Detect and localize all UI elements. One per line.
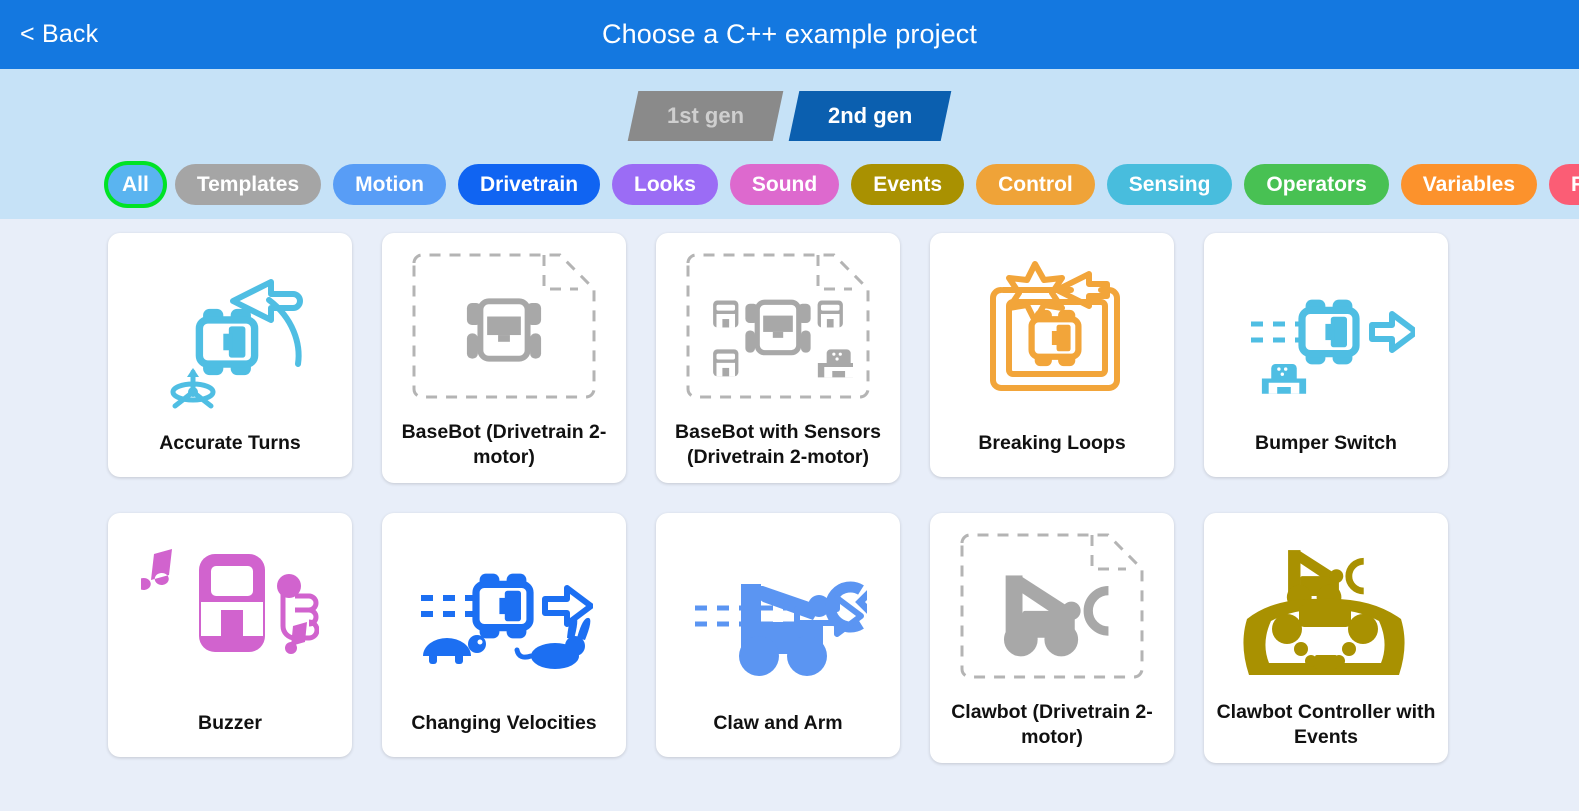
- project-card[interactable]: Bumper Switch: [1204, 233, 1448, 477]
- template-badge-frame: [963, 535, 1141, 685]
- basebot-drivetrain-icon: [382, 233, 626, 420]
- project-card-label: Bumper Switch: [1204, 431, 1448, 477]
- project-card-label: Clawbot Controller with Events: [1204, 700, 1448, 763]
- project-card-label: Accurate Turns: [108, 431, 352, 477]
- project-card-label: Breaking Loops: [930, 431, 1174, 477]
- category-pill-operators[interactable]: Operators: [1244, 164, 1388, 205]
- project-grid-scroll-area[interactable]: Accurate TurnsBaseBot (Drivetrain 2-moto…: [0, 219, 1579, 781]
- template-badge-frame: [689, 255, 867, 405]
- basebot-sensors-icon: [656, 233, 900, 420]
- robot-bumper-icon: [1204, 233, 1448, 431]
- loop-break-star-icon: [930, 233, 1174, 431]
- category-pill-variables[interactable]: Variables: [1401, 164, 1537, 205]
- project-card-label: Changing Velocities: [382, 711, 626, 757]
- category-pill-drivetrain[interactable]: Drivetrain: [458, 164, 600, 205]
- category-pill-events[interactable]: Events: [851, 164, 964, 205]
- tab-1st-gen-label: 1st gen: [667, 103, 744, 129]
- turtle-robot-rabbit-icon: [382, 513, 626, 711]
- category-pill-sensing[interactable]: Sensing: [1107, 164, 1233, 205]
- project-card[interactable]: Claw and Arm: [656, 513, 900, 757]
- category-pill-sound[interactable]: Sound: [730, 164, 839, 205]
- app-header: < Back Choose a C++ example project: [0, 0, 1579, 69]
- project-card[interactable]: BaseBot (Drivetrain 2-motor): [382, 233, 626, 483]
- category-pill-looks[interactable]: Looks: [612, 164, 718, 205]
- category-pill-functions[interactable]: Functions: [1549, 164, 1579, 205]
- buzzer-notes-hand-icon: [108, 513, 352, 711]
- clawbot-controller-icon: [1204, 513, 1448, 700]
- category-pill-templates[interactable]: Templates: [175, 164, 321, 205]
- back-button[interactable]: < Back: [12, 16, 106, 53]
- project-card-label: BaseBot with Sensors (Drivetrain 2-motor…: [656, 420, 900, 483]
- category-pill-all[interactable]: All: [108, 165, 163, 204]
- filter-panel: 1st gen 2nd gen AllTemplatesMotionDrivet…: [0, 69, 1579, 219]
- project-card[interactable]: Changing Velocities: [382, 513, 626, 757]
- category-pill-control[interactable]: Control: [976, 164, 1095, 205]
- clawbot-icon: [930, 513, 1174, 700]
- project-card-label: Buzzer: [108, 711, 352, 757]
- project-card-label: BaseBot (Drivetrain 2-motor): [382, 420, 626, 483]
- project-card[interactable]: Clawbot Controller with Events: [1204, 513, 1448, 763]
- category-pill-motion[interactable]: Motion: [333, 164, 446, 205]
- project-card-label: Clawbot (Drivetrain 2-motor): [930, 700, 1174, 763]
- tab-2nd-gen-label: 2nd gen: [828, 103, 912, 129]
- project-card[interactable]: Clawbot (Drivetrain 2-motor): [930, 513, 1174, 763]
- project-card[interactable]: BaseBot with Sensors (Drivetrain 2-motor…: [656, 233, 900, 483]
- generation-tab-group: 1st gen 2nd gen: [0, 91, 1579, 141]
- project-card-label: Claw and Arm: [656, 711, 900, 757]
- project-card[interactable]: Buzzer: [108, 513, 352, 757]
- tab-2nd-gen[interactable]: 2nd gen: [789, 91, 952, 141]
- project-card[interactable]: Breaking Loops: [930, 233, 1174, 477]
- page-title: Choose a C++ example project: [0, 19, 1579, 50]
- template-badge-frame: [415, 255, 593, 405]
- tab-1st-gen[interactable]: 1st gen: [627, 91, 783, 141]
- project-grid: Accurate TurnsBaseBot (Drivetrain 2-moto…: [0, 219, 1579, 763]
- project-card[interactable]: Accurate Turns: [108, 233, 352, 477]
- claw-arm-icon: [656, 513, 900, 711]
- robot-turn-arrow-icon: [108, 233, 352, 431]
- category-filter-list: AllTemplatesMotionDrivetrainLooksSoundEv…: [0, 164, 1579, 205]
